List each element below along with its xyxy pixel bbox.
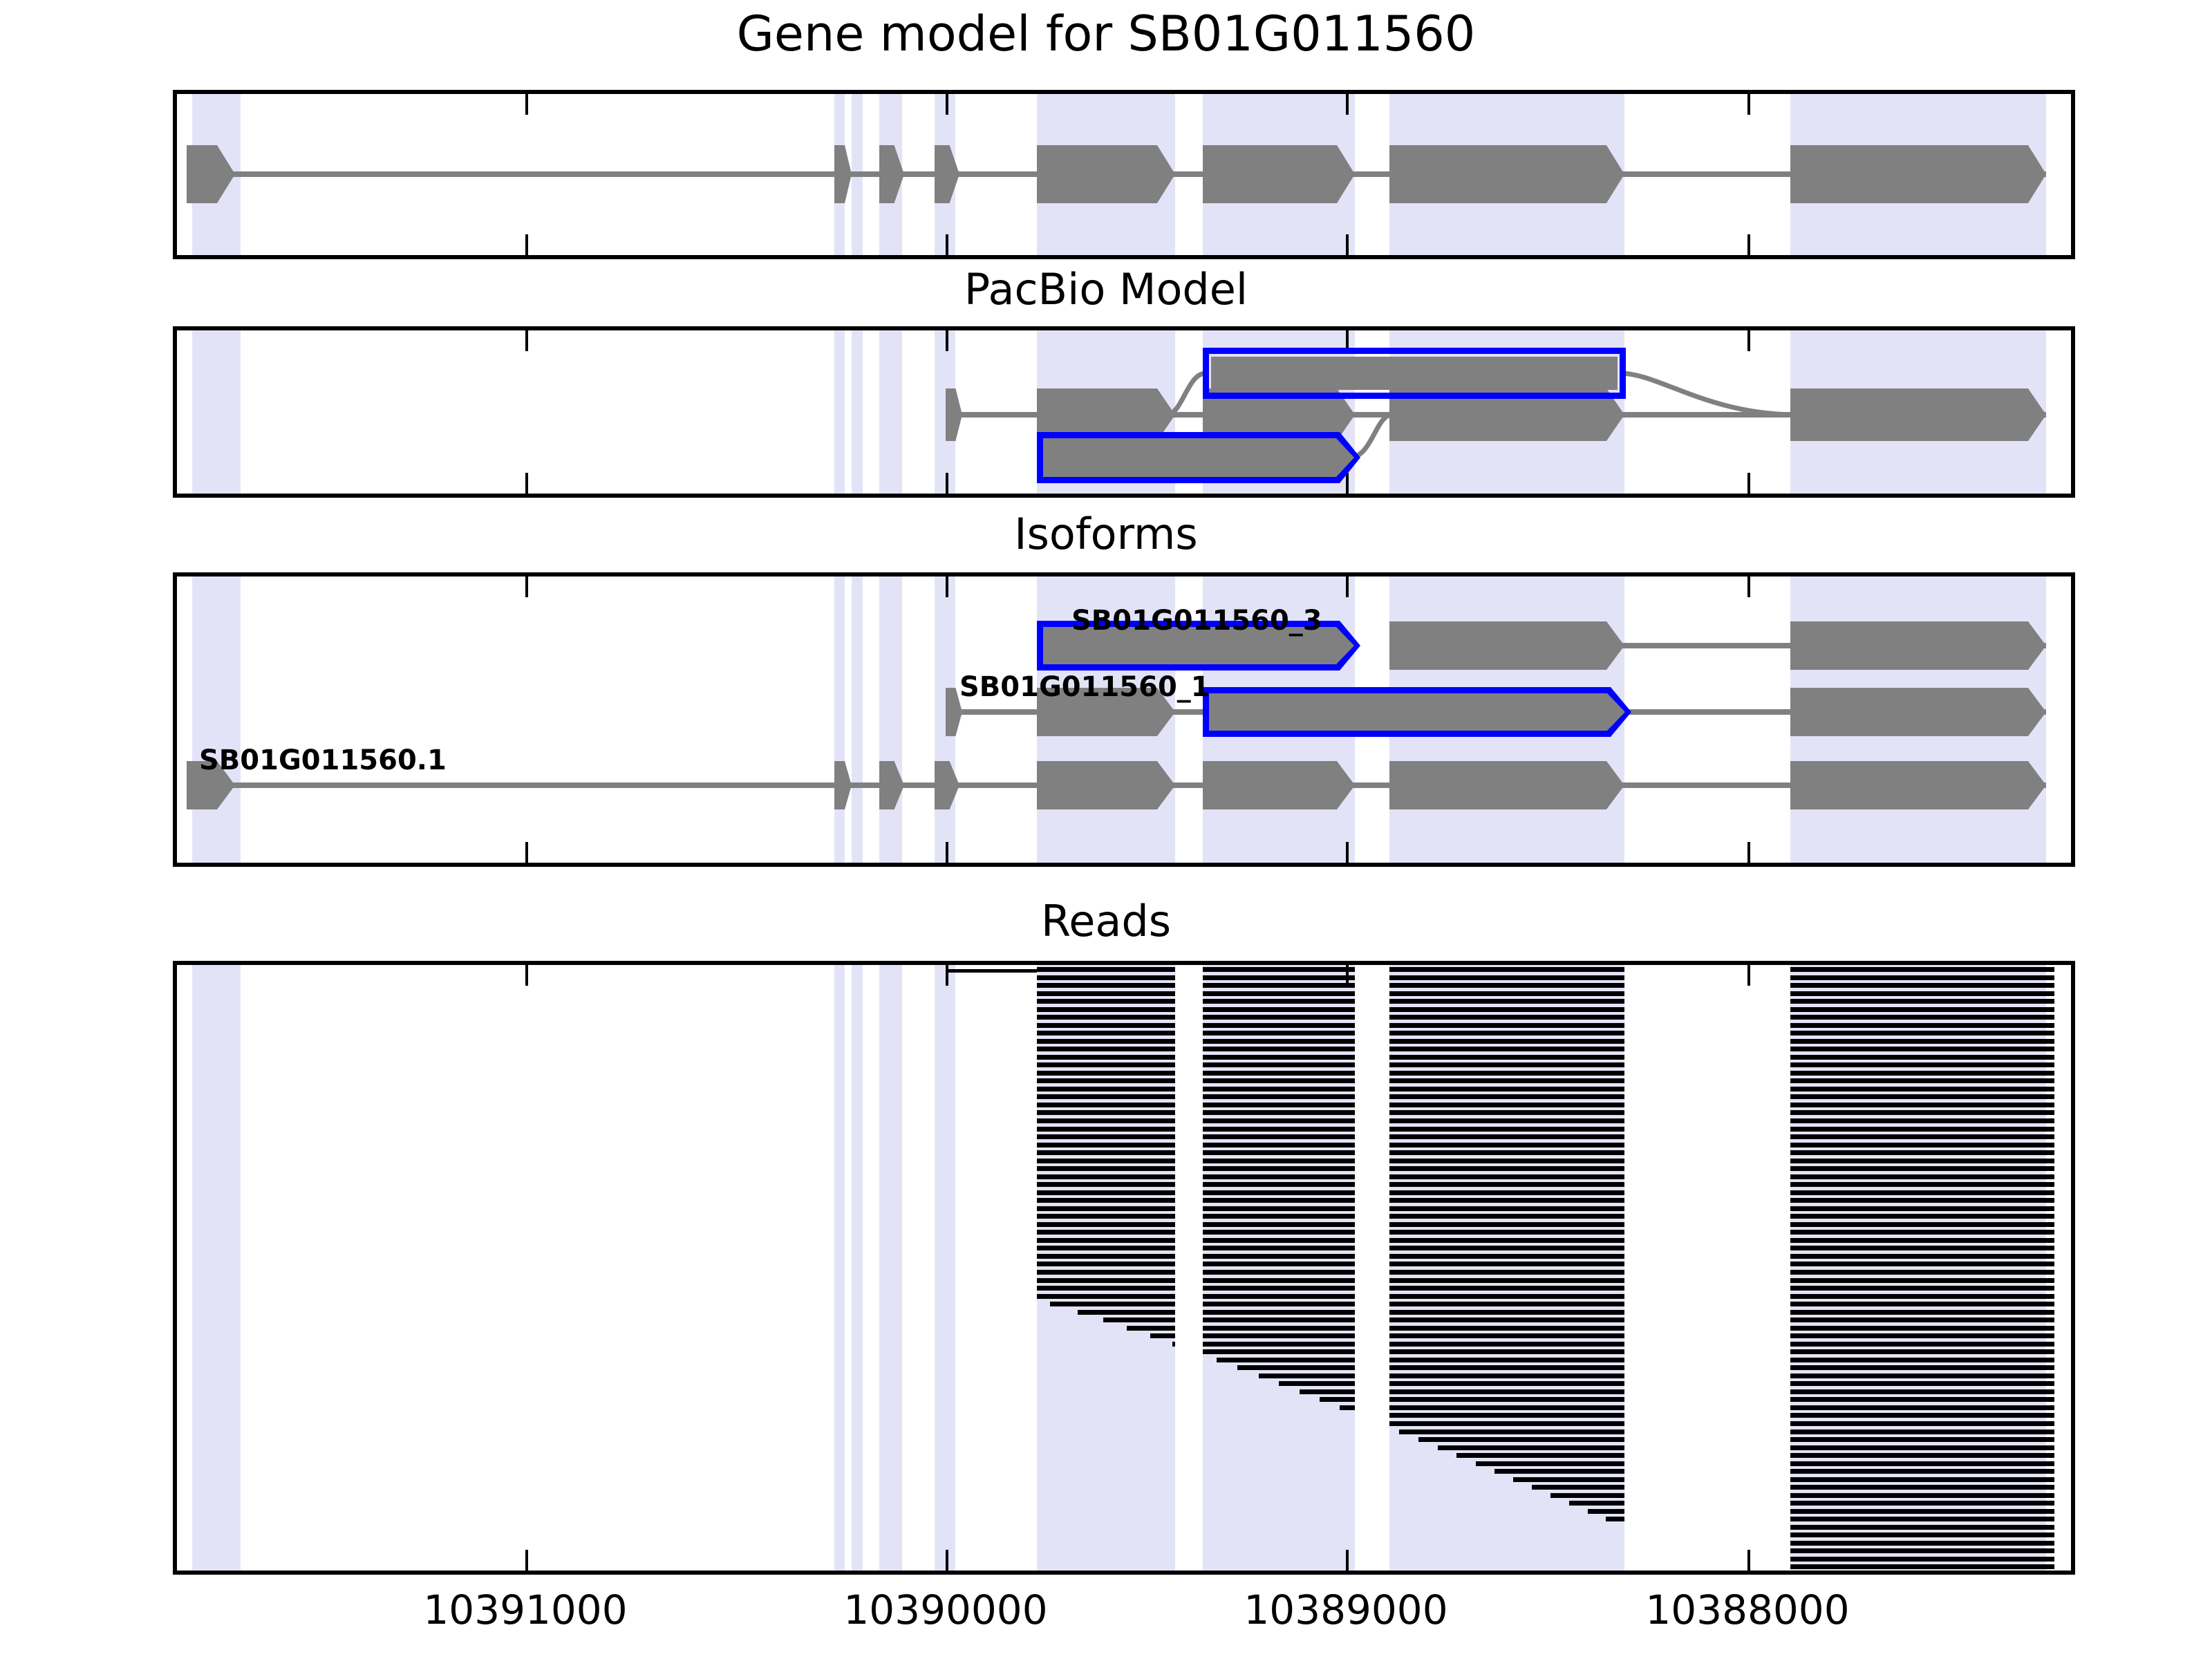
- read-segment: [1790, 1087, 2054, 1091]
- page-title: Gene model for SB01G011560: [0, 10, 2212, 58]
- read-segment: [1790, 1469, 2054, 1474]
- read-segment: [1790, 1302, 2054, 1306]
- read-segment: [1203, 1206, 1355, 1211]
- read-segment: [1037, 1238, 1175, 1243]
- read-segment: [1203, 999, 1355, 1004]
- read-segment: [1790, 1174, 2054, 1179]
- panel-reads: [173, 961, 2075, 1575]
- read-segment: [1389, 1358, 1624, 1362]
- read-segment: [1790, 1278, 2054, 1283]
- read-segment: [1389, 1094, 1624, 1099]
- read-segment: [1389, 1071, 1624, 1076]
- read-segment: [1389, 1270, 1624, 1275]
- read-segment: [1790, 1159, 2054, 1163]
- read-segment: [1037, 1222, 1175, 1227]
- read-segment: [1037, 1031, 1175, 1035]
- read-segment: [1203, 1254, 1355, 1259]
- read-segment: [1389, 983, 1624, 988]
- axis-tick-mark: [525, 94, 528, 115]
- read-segment: [1037, 967, 1175, 972]
- read-segment: [1103, 1318, 1175, 1322]
- axis-tick-mark: [1747, 330, 1750, 351]
- read-segment: [1203, 1302, 1355, 1306]
- read-segment: [1550, 1493, 1624, 1498]
- read-segment: [1037, 1206, 1175, 1211]
- read-segment: [1389, 1254, 1624, 1259]
- read-segment: [1790, 1230, 2054, 1235]
- read-segment: [1389, 967, 1624, 972]
- exon-block: [834, 145, 852, 203]
- isoform-label: SB01G011560_1: [959, 673, 1210, 701]
- exon-block: [1203, 761, 1355, 809]
- read-segment: [1790, 1533, 2054, 1537]
- read-segment: [1399, 1430, 1624, 1434]
- read-segment: [1037, 1118, 1175, 1123]
- read-segment: [1037, 1166, 1175, 1171]
- read-segment: [1389, 1310, 1624, 1315]
- highlight-band: [935, 965, 955, 1571]
- read-segment: [1050, 1302, 1175, 1306]
- read-segment: [1203, 1103, 1355, 1107]
- read-segment: [1078, 1310, 1175, 1315]
- exon-block: [1790, 388, 2046, 441]
- read-segment: [1203, 1230, 1355, 1235]
- highlight-band: [852, 965, 863, 1571]
- read-segment: [1203, 967, 1355, 972]
- read-segment: [1389, 1397, 1624, 1402]
- highlight-band: [192, 330, 241, 494]
- highlighted-isoform-outline[interactable]: [1203, 687, 1631, 737]
- read-segment: [1203, 1318, 1355, 1322]
- read-segment: [1790, 1564, 2054, 1569]
- read-segment: [1790, 1094, 2054, 1099]
- highlight-band: [192, 577, 241, 863]
- read-segment: [1203, 1039, 1355, 1044]
- read-segment: [1790, 1286, 2054, 1291]
- read-segment: [1389, 1166, 1624, 1171]
- read-segment: [1150, 1333, 1175, 1338]
- read-segment: [1790, 1118, 2054, 1123]
- read-segment: [1259, 1374, 1355, 1378]
- panel-pacbio-model: [173, 326, 2075, 498]
- read-segment: [1790, 1557, 2054, 1562]
- axis-tick-mark: [1346, 1550, 1349, 1571]
- exon-block: [1037, 761, 1175, 809]
- highlight-band: [192, 965, 241, 1571]
- read-segment: [1203, 1150, 1355, 1155]
- read-segment: [1790, 1333, 2054, 1338]
- axis-tick-mark: [946, 234, 948, 255]
- read-segment: [1203, 1047, 1355, 1051]
- read-segment: [1790, 1445, 2054, 1450]
- read-segment: [1340, 1405, 1355, 1410]
- axis-tick-mark: [1747, 842, 1750, 863]
- axis-tick-mark: [946, 473, 948, 494]
- axis-tick-mark: [1747, 473, 1750, 494]
- x-tick-label: 10388000: [1645, 1590, 1849, 1630]
- highlight-band: [834, 330, 845, 494]
- read-segment: [1203, 1278, 1355, 1283]
- panel-title-pacbio: PacBio Model: [0, 268, 2212, 311]
- read-segment: [1203, 1023, 1355, 1028]
- read-segment: [1389, 1333, 1624, 1338]
- read-segment: [1217, 1358, 1355, 1362]
- read-segment: [1203, 983, 1355, 988]
- read-segment: [1203, 1182, 1355, 1187]
- read-segment: [1790, 1389, 2054, 1394]
- read-segment: [1389, 1150, 1624, 1155]
- read-segment: [1037, 1278, 1175, 1283]
- read-segment: [1389, 1381, 1624, 1386]
- read-segment: [1203, 1190, 1355, 1195]
- read-segment: [1389, 1078, 1624, 1083]
- read-segment: [1790, 1541, 2054, 1546]
- axis-tick-mark: [1346, 577, 1349, 597]
- read-segment: [1037, 983, 1175, 988]
- read-segment: [1203, 1071, 1355, 1076]
- read-segment: [1790, 1270, 2054, 1275]
- read-segment: [1389, 1421, 1624, 1426]
- read-segment: [1203, 1174, 1355, 1179]
- read-segment: [1790, 1548, 2054, 1553]
- read-segment: [1790, 1413, 2054, 1418]
- axis-tick-mark: [946, 965, 948, 986]
- read-segment: [1037, 975, 1175, 980]
- read-segment: [1389, 1087, 1624, 1091]
- axis-tick-mark: [1346, 234, 1349, 255]
- read-segment: [1037, 999, 1175, 1004]
- read-segment: [1203, 1094, 1355, 1099]
- read-segment: [1203, 1333, 1355, 1338]
- read-segment: [1037, 1150, 1175, 1155]
- read-segment: [1790, 1238, 2054, 1243]
- axis-tick-mark: [946, 842, 948, 863]
- highlighted-isoform-outline[interactable]: [1037, 432, 1360, 483]
- read-segment: [1237, 1365, 1355, 1370]
- read-segment: [1389, 1262, 1624, 1266]
- read-segment: [1389, 1103, 1624, 1107]
- read-segment: [1790, 983, 2054, 988]
- read-segment: [1606, 1517, 1624, 1521]
- read-segment: [1513, 1477, 1624, 1482]
- read-segment: [1389, 1143, 1624, 1147]
- read-segment: [1203, 1310, 1355, 1315]
- read-segment: [1037, 1087, 1175, 1091]
- read-segment: [1203, 1286, 1355, 1291]
- read-segment: [1203, 1078, 1355, 1083]
- exon-block: [1389, 761, 1624, 809]
- read-segment: [1203, 1159, 1355, 1163]
- read-segment: [1037, 1071, 1175, 1076]
- x-tick-label: 10391000: [423, 1590, 627, 1630]
- read-segment: [1389, 999, 1624, 1004]
- axis-tick-mark: [1747, 1550, 1750, 1571]
- axis-tick-mark: [525, 965, 528, 986]
- highlight-band: [834, 577, 845, 863]
- read-segment: [1037, 1110, 1175, 1115]
- read-segment: [1569, 1501, 1624, 1506]
- exon-block: [1790, 621, 2046, 670]
- read-segment: [1203, 1134, 1355, 1139]
- read-segment: [1790, 1110, 2054, 1115]
- read-segment: [1389, 1389, 1624, 1394]
- read-segment: [1037, 1190, 1175, 1195]
- read-segment: [1037, 1262, 1175, 1266]
- read-segment: [1389, 1110, 1624, 1115]
- read-segment: [1790, 1166, 2054, 1171]
- exon-block: [1790, 761, 2046, 809]
- read-segment: [1037, 1182, 1175, 1187]
- read-segment: [1389, 1230, 1624, 1235]
- read-segment: [1790, 1358, 2054, 1362]
- read-segment: [1790, 1365, 2054, 1370]
- exon-block: [834, 761, 852, 809]
- read-segment: [1790, 1461, 2054, 1466]
- read-segment: [1203, 1007, 1355, 1012]
- read-segment: [1203, 1166, 1355, 1171]
- exon-block: [1209, 693, 1625, 731]
- read-segment: [1037, 1094, 1175, 1099]
- read-segment: [1790, 1023, 2054, 1028]
- read-segment: [1203, 975, 1355, 980]
- exon-block: [1790, 688, 2046, 736]
- read-segment: [1389, 1118, 1624, 1123]
- axis-tick-mark: [525, 842, 528, 863]
- read-segment: [1203, 1143, 1355, 1147]
- read-segment: [1790, 1015, 2054, 1020]
- x-tick-label: 10390000: [843, 1590, 1047, 1630]
- read-segment: [1790, 1222, 2054, 1227]
- read-segment: [1790, 1182, 2054, 1187]
- read-segment: [1037, 1159, 1175, 1163]
- read-segment: [1037, 1039, 1175, 1044]
- read-segment: [1389, 991, 1624, 996]
- read-segment: [1790, 1430, 2054, 1434]
- read-segment: [1790, 1453, 2054, 1458]
- read-segment: [1037, 1230, 1175, 1235]
- axis-tick-mark: [525, 1550, 528, 1571]
- read-segment: [1588, 1509, 1624, 1514]
- read-segment: [1037, 1078, 1175, 1083]
- read-segment: [1037, 1214, 1175, 1219]
- read-segment: [1476, 1461, 1624, 1466]
- read-segment: [1300, 1389, 1355, 1394]
- read-segment: [1389, 1159, 1624, 1163]
- read-segment: [1203, 1015, 1355, 1020]
- highlight-band: [879, 965, 902, 1571]
- read-segment: [1494, 1469, 1624, 1474]
- read-segment: [1037, 1015, 1175, 1020]
- axis-tick-mark: [1346, 94, 1349, 115]
- axis-tick-mark: [525, 577, 528, 597]
- read-segment: [1790, 1262, 2054, 1266]
- read-segment: [1790, 1374, 2054, 1378]
- read-segment: [1203, 1087, 1355, 1091]
- read-segment: [1203, 1062, 1355, 1067]
- read-segment: [1389, 1007, 1624, 1012]
- read-segment: [1389, 1055, 1624, 1060]
- read-segment: [1203, 1031, 1355, 1035]
- read-segment: [1790, 1310, 2054, 1315]
- highlight-band: [879, 577, 902, 863]
- panel-gene-model: [173, 90, 2075, 259]
- read-segment: [1203, 1342, 1355, 1347]
- read-segment: [1790, 1405, 2054, 1410]
- read-segment: [1790, 1206, 2054, 1211]
- read-segment: [1172, 1342, 1175, 1347]
- axis-tick-mark: [525, 473, 528, 494]
- read-segment: [1037, 1174, 1175, 1179]
- read-segment: [1389, 1062, 1624, 1067]
- read-segment: [1790, 1214, 2054, 1219]
- read-segment: [1389, 1238, 1624, 1243]
- read-segment: [1037, 1254, 1175, 1259]
- read-segment: [1037, 1198, 1175, 1203]
- read-segment: [1790, 1342, 2054, 1347]
- axis-tick-mark: [1346, 473, 1349, 494]
- read-segment: [1203, 1110, 1355, 1115]
- read-segment: [1389, 1047, 1624, 1051]
- read-segment: [1790, 1078, 2054, 1083]
- read-segment: [1389, 1294, 1624, 1299]
- read-segment: [1389, 1413, 1624, 1418]
- read-segment: [1389, 1405, 1624, 1410]
- read-segment: [1389, 1326, 1624, 1331]
- read-segment: [1037, 991, 1175, 996]
- read-segment: [1037, 1127, 1175, 1132]
- read-segment: [1438, 1445, 1624, 1450]
- read-segment: [1456, 1453, 1624, 1458]
- exon-block: [1389, 145, 1624, 203]
- panel-title-isoforms: Isoforms: [0, 513, 2212, 556]
- read-segment: [1790, 1103, 2054, 1107]
- highlight-band: [834, 965, 845, 1571]
- read-segment: [1037, 1047, 1175, 1051]
- read-segment: [1203, 1118, 1355, 1123]
- read-segment: [1389, 1302, 1624, 1306]
- read-segment: [1203, 1238, 1355, 1243]
- read-segment: [1203, 1214, 1355, 1219]
- read-segment: [1418, 1437, 1624, 1442]
- read-segment: [1389, 1214, 1624, 1219]
- axis-tick-mark: [1346, 842, 1349, 863]
- axis-tick-mark: [1747, 234, 1750, 255]
- axis-tick-mark: [525, 234, 528, 255]
- read-segment: [1203, 1294, 1355, 1299]
- read-segment: [1037, 1246, 1175, 1250]
- read-segment: [1203, 1262, 1355, 1266]
- read-segment: [1790, 1501, 2054, 1506]
- read-segment: [1203, 1270, 1355, 1275]
- read-segment: [1790, 1485, 2054, 1490]
- read-segment: [1389, 1222, 1624, 1227]
- read-segment: [1037, 1294, 1175, 1299]
- read-segment: [1037, 1270, 1175, 1275]
- axis-tick-mark: [946, 330, 948, 351]
- read-segment: [1389, 1015, 1624, 1020]
- read-segment: [1203, 991, 1355, 996]
- read-segment: [1037, 1062, 1175, 1067]
- exon-block: [1037, 145, 1175, 203]
- isoform-label: SB01G011560_3: [1071, 607, 1322, 635]
- read-segment: [1389, 1023, 1624, 1028]
- read-segment: [1790, 1055, 2054, 1060]
- read-segment: [1790, 1254, 2054, 1259]
- read-segment: [1037, 1103, 1175, 1107]
- axis-tick-mark: [946, 94, 948, 115]
- read-segment: [1389, 1278, 1624, 1283]
- read-segment: [1790, 1294, 2054, 1299]
- read-segment: [1790, 1397, 2054, 1402]
- read-segment: [1203, 1246, 1355, 1250]
- read-segment: [1790, 1493, 2054, 1498]
- read-segment: [1532, 1485, 1624, 1490]
- read-segment: [1389, 1246, 1624, 1250]
- read-segment: [1389, 1374, 1624, 1378]
- read-segment: [1790, 1421, 2054, 1426]
- read-segment: [1790, 1150, 2054, 1155]
- read-segment: [1389, 1182, 1624, 1187]
- read-segment: [1389, 1206, 1624, 1211]
- read-segment: [1037, 1055, 1175, 1060]
- read-segment: [1790, 1517, 2054, 1521]
- read-segment: [1790, 1198, 2054, 1203]
- read-segment: [1790, 1071, 2054, 1076]
- read-segment: [1790, 1349, 2054, 1354]
- highlight-band: [852, 330, 863, 494]
- read-segment: [1389, 1174, 1624, 1179]
- read-segment: [1790, 1381, 2054, 1386]
- exon-block: [1203, 145, 1355, 203]
- read-segment: [1790, 1007, 2054, 1012]
- read-segment: [1203, 1222, 1355, 1227]
- read-segment: [1203, 1127, 1355, 1132]
- exon-block: [1790, 145, 2046, 203]
- read-segment: [1389, 1190, 1624, 1195]
- exon-block: [946, 388, 962, 441]
- read-segment: [1790, 1127, 2054, 1132]
- read-segment: [1790, 975, 2054, 980]
- exon-block: [935, 145, 959, 203]
- exon-block: [1211, 357, 1618, 390]
- highlight-band: [879, 330, 902, 494]
- read-segment: [1790, 1509, 2054, 1514]
- axis-tick-mark: [946, 577, 948, 597]
- read-segment: [1790, 1031, 2054, 1035]
- read-segment: [1389, 1039, 1624, 1044]
- read-connector: [946, 969, 1037, 973]
- read-segment: [1790, 991, 2054, 996]
- figure-root: Gene model for SB01G011560 PacBio Model …: [0, 0, 2212, 1659]
- read-segment: [1790, 967, 2054, 972]
- read-segment: [1389, 1198, 1624, 1203]
- isoform-label: SB01G011560.1: [199, 747, 447, 774]
- read-segment: [1790, 1318, 2054, 1322]
- read-segment: [1790, 1047, 2054, 1051]
- read-segment: [1037, 1023, 1175, 1028]
- panel-isoforms: SB01G011560_3SB01G011560_1SB01G011560.1: [173, 572, 2075, 867]
- exon-block: [1043, 438, 1354, 477]
- read-segment: [1389, 1127, 1624, 1132]
- read-segment: [1279, 1381, 1355, 1386]
- read-segment: [1790, 1246, 2054, 1250]
- highlight-band: [852, 577, 863, 863]
- axis-tick-mark: [1747, 965, 1750, 986]
- x-tick-label: 10389000: [1244, 1590, 1447, 1630]
- axis-tick-mark: [946, 1550, 948, 1571]
- read-segment: [1790, 999, 2054, 1004]
- read-segment: [1790, 1525, 2054, 1530]
